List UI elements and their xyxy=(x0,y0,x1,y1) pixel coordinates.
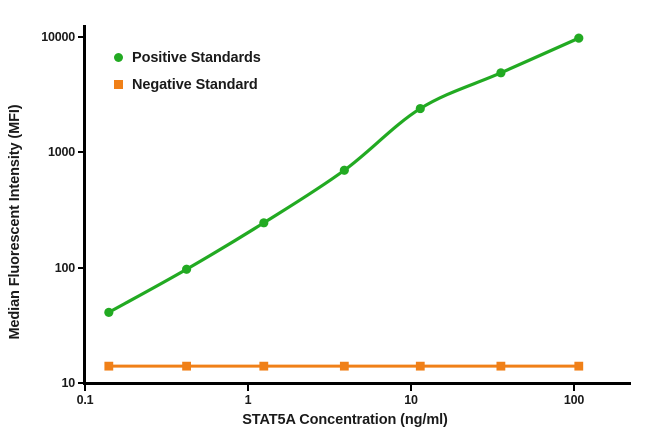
data-point-square[interactable] xyxy=(496,362,505,371)
series-negative-standard xyxy=(104,362,583,371)
legend-item-label: Negative Standard xyxy=(132,77,258,93)
legend-item-negative-standard[interactable]: Negative Standard xyxy=(114,75,261,94)
data-point-square[interactable] xyxy=(182,362,191,371)
data-point-circle[interactable] xyxy=(259,218,268,227)
data-point-square[interactable] xyxy=(259,362,268,371)
legend-circle-icon xyxy=(114,53,123,62)
chart-legend: Positive StandardsNegative Standard xyxy=(114,48,261,94)
data-point-square[interactable] xyxy=(574,362,583,371)
data-point-square[interactable] xyxy=(104,362,113,371)
data-point-circle[interactable] xyxy=(574,34,583,43)
chart-container: Median Fluorescent Intensity (MFI) STAT5… xyxy=(0,0,650,444)
plot-series-layer xyxy=(0,0,650,444)
data-point-square[interactable] xyxy=(416,362,425,371)
data-point-circle[interactable] xyxy=(416,104,425,113)
data-point-circle[interactable] xyxy=(182,265,191,274)
legend-square-icon xyxy=(114,80,123,89)
legend-item-positive-standards[interactable]: Positive Standards xyxy=(114,48,261,67)
data-point-circle[interactable] xyxy=(340,166,349,175)
data-point-square[interactable] xyxy=(340,362,349,371)
data-point-circle[interactable] xyxy=(104,308,113,317)
legend-item-label: Positive Standards xyxy=(132,50,261,66)
data-point-circle[interactable] xyxy=(496,68,505,77)
